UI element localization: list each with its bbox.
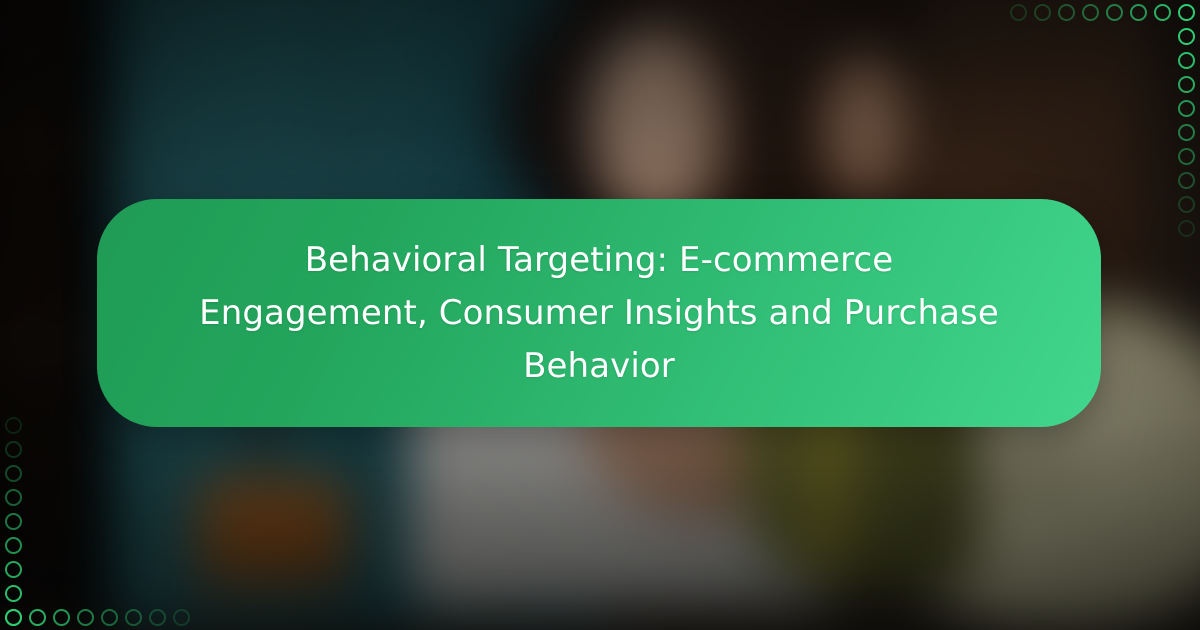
- decorative-dot: [1154, 4, 1171, 21]
- decorative-dot: [1058, 4, 1075, 21]
- decorative-dot: [101, 609, 118, 626]
- decorative-dot: [1130, 4, 1147, 21]
- decorative-dot: [1178, 100, 1195, 117]
- decorative-dot: [173, 609, 190, 626]
- decorative-dot: [29, 609, 46, 626]
- decorative-dot: [1010, 4, 1027, 21]
- decorative-dot: [1106, 4, 1123, 21]
- decorative-dot: [1178, 220, 1195, 237]
- decorative-dot: [1178, 52, 1195, 69]
- decorative-dot: [5, 585, 22, 602]
- decorative-dot: [1178, 28, 1195, 45]
- decorative-dot: [125, 609, 142, 626]
- decorative-dot: [1082, 4, 1099, 21]
- decorative-dot: [5, 417, 22, 434]
- decorative-dot: [5, 465, 22, 482]
- decorative-dot: [1178, 76, 1195, 93]
- decorative-dot: [5, 441, 22, 458]
- decorative-dot: [5, 537, 22, 554]
- decorative-dot: [1178, 4, 1195, 21]
- decorative-dot: [1178, 196, 1195, 213]
- decorative-dot: [5, 489, 22, 506]
- decorative-dot: [77, 609, 94, 626]
- title-card: Behavioral Targeting: E-commerce Engagem…: [97, 199, 1101, 427]
- decorative-dot: [1178, 148, 1195, 165]
- decorative-dot: [149, 609, 166, 626]
- decorative-dot: [5, 513, 22, 530]
- og-image-card: Behavioral Targeting: E-commerce Engagem…: [0, 0, 1200, 630]
- decorative-dot: [53, 609, 70, 626]
- decorative-dot: [1178, 172, 1195, 189]
- decorative-dot: [1034, 4, 1051, 21]
- page-title: Behavioral Targeting: E-commerce Engagem…: [199, 234, 999, 393]
- decorative-dot: [5, 561, 22, 578]
- decorative-dot: [5, 609, 22, 626]
- decorative-dot: [1178, 124, 1195, 141]
